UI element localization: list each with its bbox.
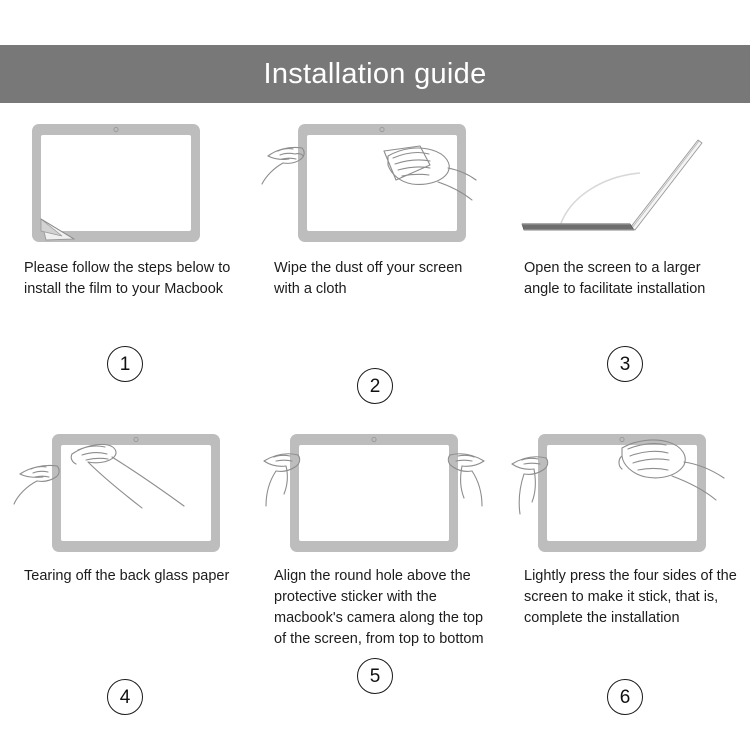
- step-number-wrap-2: 2: [262, 368, 488, 404]
- step-card-3: Open the screen to a larger angle to fac…: [500, 118, 750, 404]
- step-number-badge-6: 6: [607, 679, 643, 715]
- step-number-badge-1: 1: [107, 346, 143, 382]
- steps-grid: Please follow the steps below to install…: [0, 118, 750, 715]
- installation-guide-page: Installation guide Please follow the ste…: [0, 0, 750, 750]
- step-card-4: Tearing off the back glass paper 4: [0, 404, 250, 715]
- step-number-wrap-6: 6: [512, 679, 738, 715]
- illustration-screen-with-hand-pressing-film: [512, 426, 738, 556]
- step-number-wrap-1: 1: [12, 346, 238, 382]
- step-caption-1: Please follow the steps below to install…: [12, 258, 238, 324]
- step-card-5: Align the round hole above the protectiv…: [250, 404, 500, 715]
- illustration-screen-with-peeling-film-corner: [12, 118, 238, 248]
- step-number-badge-3: 3: [607, 346, 643, 382]
- step-number-wrap-3: 3: [512, 346, 738, 382]
- step-number-badge-5: 5: [357, 658, 393, 694]
- step-card-2: Wipe the dust off your screen with a clo…: [250, 118, 500, 404]
- step-caption-2: Wipe the dust off your screen with a clo…: [262, 258, 488, 324]
- step-caption-6: Lightly press the four sides of the scre…: [512, 566, 738, 629]
- step-caption-4: Tearing off the back glass paper: [12, 566, 229, 587]
- header-bar: Installation guide: [0, 45, 750, 103]
- step-caption-5: Align the round hole above the protectiv…: [262, 566, 488, 650]
- illustration-screen-with-hands-tearing-paper: [12, 426, 238, 556]
- step-number-badge-2: 2: [357, 368, 393, 404]
- step-number-badge-4: 4: [107, 679, 143, 715]
- step-number-wrap-5: 5: [262, 658, 488, 694]
- page-title: Installation guide: [263, 60, 486, 89]
- illustration-screen-with-hand-wiping-cloth: [262, 118, 488, 248]
- illustration-laptop-side-view-opening-angle: [512, 118, 738, 248]
- step-caption-3: Open the screen to a larger angle to fac…: [512, 258, 738, 324]
- step-number-wrap-4: 4: [12, 679, 238, 715]
- step-card-1: Please follow the steps below to install…: [0, 118, 250, 404]
- illustration-screen-with-two-hands-aligning-film: [262, 426, 488, 556]
- step-card-6: Lightly press the four sides of the scre…: [500, 404, 750, 715]
